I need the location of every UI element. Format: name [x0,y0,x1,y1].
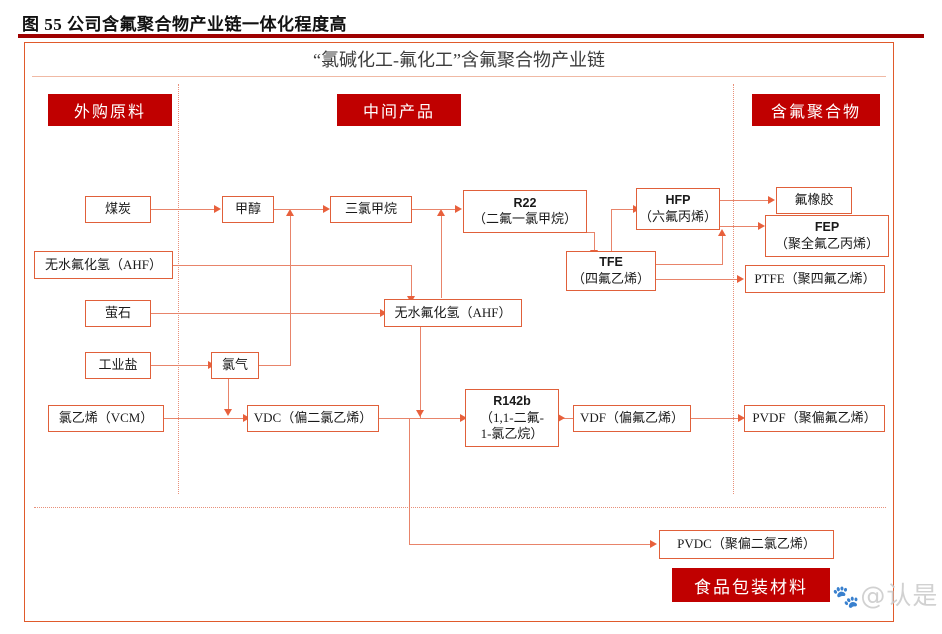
arrowhead-tfe-ptfe [737,275,744,283]
arrowhead-methanol-chloroform [323,205,330,213]
arrowhead-tfe-fep [718,229,726,236]
edge-chlorine-vdc [228,377,229,411]
node-hfp[interactable]: HFP （六氟丙烯） [636,188,720,230]
arrowhead-hfp-frubber [768,196,775,204]
node-methanol-line-0: 甲醇 [235,201,261,217]
arrowhead-coal-methanol [214,205,221,213]
node-tfe[interactable]: TFE （四氟乙烯） [566,251,656,291]
edge-coal-methanol [150,209,216,210]
section-chip-food: 食品包装材料 [672,568,830,602]
node-hfp-line-1: （六氟丙烯） [639,209,717,225]
node-r22[interactable]: R22 （二氟一氯甲烷） [463,190,587,233]
edge-fluorite-ahfmid [150,313,382,314]
node-fluoro-rubber-line-0: 氟橡胶 [794,192,833,208]
node-vdf[interactable]: VDF（偏氟乙烯） [573,405,691,432]
edge-vdc-r142b [378,418,462,419]
edge-hfp-frubber [718,200,770,201]
node-ahf-mid[interactable]: 无水氟化氢（AHF） [384,299,522,327]
edge-vdc-pvdc-run [409,544,652,545]
arrowhead-vdc-pvdc [650,540,657,548]
edge-chlorine-methanol-rise [290,216,291,366]
edge-hfp-fep [718,226,760,227]
node-fep[interactable]: FEP （聚全氟乙丙烯） [765,215,889,257]
edge-ahfmid-chloroform [441,216,442,298]
edge-vcm-vdc [163,418,245,419]
paw-icon: 🐾 [832,585,860,610]
arrowhead-ahfmid-r142b-drop [416,410,424,417]
arrowhead-chlorine-vdc [224,409,232,416]
arrowhead-r142b-vdf [558,414,565,422]
node-pvdc-line-0: PVDC（聚偏二氯乙烯） [677,536,816,552]
node-chlorine-line-0: 氯气 [222,357,248,373]
edge-vdc-pvdc-drop [409,419,410,544]
section-chip-fluoro: 含氟聚合物 [752,94,880,126]
node-chloroform[interactable]: 三氯甲烷 [330,196,412,223]
figure-caption: 图 55 公司含氟聚合物产业链一体化程度高 [22,10,492,34]
node-vcm[interactable]: 氯乙烯（VCM） [48,405,164,432]
node-ptfe-line-0: PTFE（聚四氟乙烯） [754,271,875,287]
edge-chloroform-r22 [412,209,460,210]
section-chip-inter: 中间产品 [337,94,461,126]
edge-ahfraw-ahfmid [172,265,412,266]
edge-ahfmid-r142b-drop [420,327,421,418]
edge-salt-chlorine [150,365,210,366]
node-fluorite[interactable]: 萤石 [85,300,151,327]
node-r22-line-0: R22 [514,196,537,212]
node-chlorine[interactable]: 氯气 [211,352,259,379]
node-fluorite-line-0: 萤石 [105,305,131,321]
node-vdf-line-0: VDF（偏氟乙烯） [580,410,684,426]
edge-vdf-pvdf [690,418,740,419]
node-r22-line-1: （二氟一氯甲烷） [473,211,577,227]
node-vdc-line-0: VDC（偏二氯乙烯） [254,410,372,426]
node-tfe-line-1: （四氟乙烯） [572,271,650,287]
node-r142b-line-0: R142b [493,394,531,410]
edge-tfe-ptfe [655,279,739,280]
node-r142b-line-1: （1,1-二氟- [480,410,544,426]
edge-methanol-chloroform [273,209,325,210]
separator-bottom [34,507,886,508]
node-ahf-mid-line-0: 无水氟化氢（AHF） [394,305,511,321]
node-r142b[interactable]: R142b （1,1-二氟- 1-氯乙烷） [465,389,559,447]
caption-rule [18,34,924,38]
arrowhead-ahfmid-chloroform [437,209,445,216]
node-salt-line-0: 工业盐 [98,357,137,373]
node-fep-line-1: （聚全氟乙丙烯） [775,236,879,252]
arrowhead-chloroform-r22 [455,205,462,213]
watermark: 🐾@认是 [832,576,938,612]
node-ahf-raw[interactable]: 无水氟化氢（AHF） [34,251,173,279]
node-fluoro-rubber[interactable]: 氟橡胶 [776,187,852,214]
edge-ahfraw-ahfmid-drop [411,265,412,298]
edge-tfe-fep-run [655,264,723,265]
arrowhead-chlorine-methanol [286,209,294,216]
title-underline [32,76,886,77]
node-hfp-line-0: HFP [666,193,691,209]
separator-inter-fluoro [733,84,734,494]
chart-title: “氯碱化工-氟化工”含氟聚合物产业链 [24,46,894,74]
node-r142b-line-2: 1-氯乙烷） [481,426,544,442]
node-ahf-raw-line-0: 无水氟化氢（AHF） [45,257,162,273]
section-chip-raw: 外购原料 [48,94,172,126]
node-tfe-line-0: TFE [599,255,623,271]
node-ptfe[interactable]: PTFE（聚四氟乙烯） [745,265,885,293]
node-pvdf-line-0: PVDF（聚偏氟乙烯） [752,410,876,426]
separator-raw-inter [178,84,179,494]
node-vdc[interactable]: VDC（偏二氯乙烯） [247,405,379,432]
node-methanol[interactable]: 甲醇 [222,196,274,223]
edge-chlorine-methanol-run [259,365,291,366]
node-coal[interactable]: 煤炭 [85,196,151,223]
node-fep-line-0: FEP [815,220,839,236]
edge-r22-tfe [594,232,595,252]
edge-tfe-hfp [611,209,612,252]
node-vcm-line-0: 氯乙烯（VCM） [59,410,154,426]
arrowhead-hfp-fep [758,222,765,230]
node-pvdf[interactable]: PVDF（聚偏氟乙烯） [744,405,885,432]
node-pvdc[interactable]: PVDC（聚偏二氯乙烯） [659,530,834,559]
node-coal-line-0: 煤炭 [105,201,131,217]
node-chloroform-line-0: 三氯甲烷 [345,201,397,217]
edge-tfe-fep-rise [722,236,723,265]
watermark-text: @认是 [860,581,938,610]
node-salt[interactable]: 工业盐 [85,352,151,379]
